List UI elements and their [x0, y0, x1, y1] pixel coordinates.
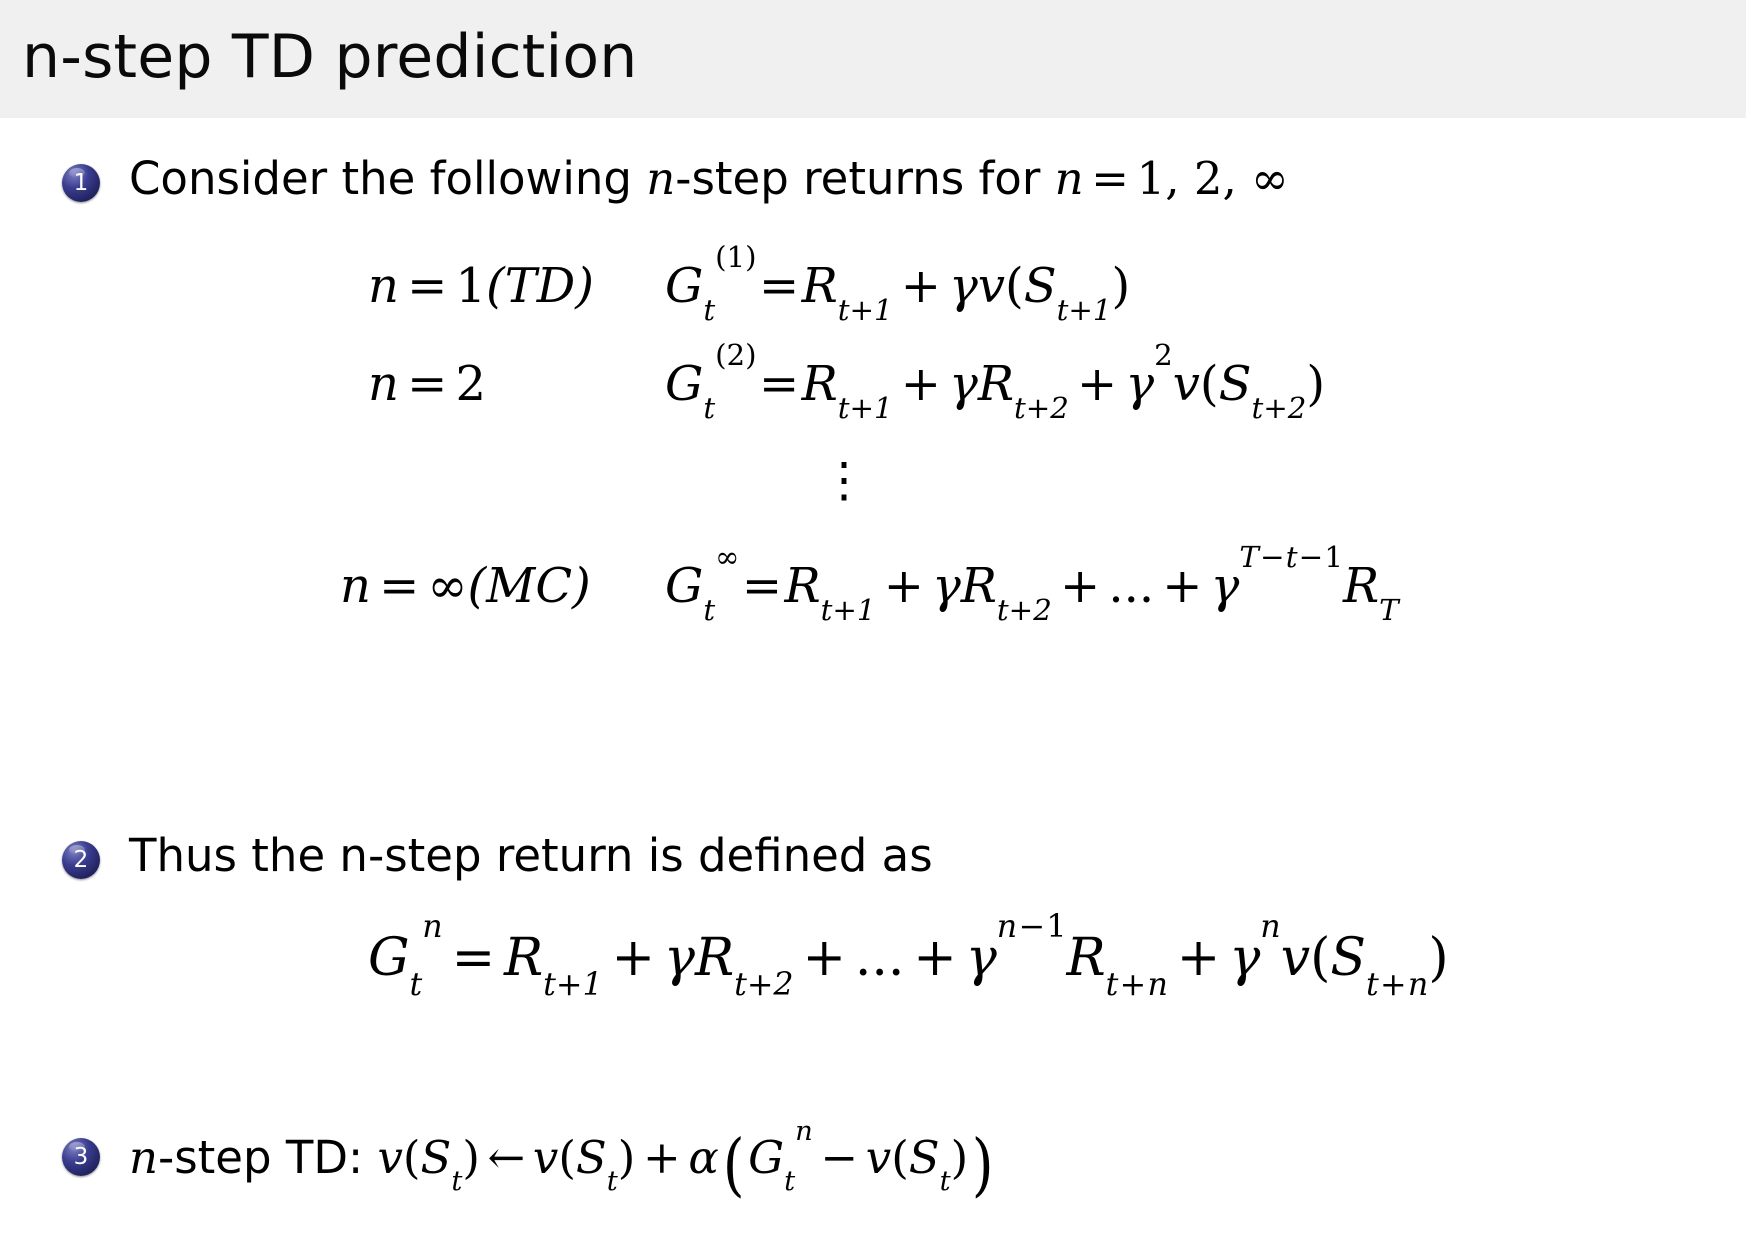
subscript-t-plus-1: t+1	[1057, 293, 1112, 327]
symbol-gamma: γ	[949, 258, 978, 314]
symbol-G: G	[665, 258, 703, 314]
equation-line-3-body: Gt∞=Rt+1+γRt+2+...+γT−t−1RT	[665, 558, 1399, 614]
subscript-t: t	[940, 1166, 951, 1197]
left-paren: (	[558, 1131, 576, 1184]
symbol-v: v	[866, 1131, 891, 1184]
symbol-G: G	[368, 928, 410, 988]
symbol-S: S	[1024, 258, 1057, 314]
equation-line-2-body: Gt(2)=Rt+1+γRt+2+γ2v(St+2)	[665, 356, 1325, 412]
plus-sign: +	[893, 356, 950, 412]
equals-sign: =	[1084, 152, 1137, 205]
equals-sign: =	[399, 356, 456, 412]
value-2: 2	[455, 356, 486, 412]
italic-n: n	[129, 1131, 158, 1184]
equals-sign: =	[757, 258, 802, 314]
equation-line-2-condition: n=2	[368, 356, 486, 412]
superscript-n-minus-1: n−1	[997, 909, 1067, 945]
symbol-alpha: α	[688, 1131, 718, 1184]
equals-sign: =	[740, 558, 785, 614]
symbol-R: R	[785, 558, 821, 614]
right-paren: )	[1428, 928, 1448, 988]
value-1: 1	[455, 258, 486, 314]
enum-marker-1: 1	[62, 164, 100, 202]
n-values: 1, 2, ∞	[1137, 152, 1289, 205]
symbol-n: n	[368, 258, 399, 314]
subscript-t-plus-1: t+1	[543, 967, 603, 1003]
right-paren: )	[618, 1131, 636, 1184]
subscript-t: t	[410, 967, 423, 1003]
symbol-S: S	[1330, 928, 1366, 988]
subscript-t: t	[703, 391, 715, 425]
equation-line-1-body: Gt(1)=Rt+1+γv(St+1)	[665, 258, 1130, 314]
symbol-R: R	[961, 558, 997, 614]
equation-nstep-return-definition: Gtn=Rt+1+γRt+2+...+γn−1Rt+n+γnv(St+n)	[368, 928, 1449, 988]
left-paren: (	[891, 1131, 909, 1184]
superscript-n: n	[795, 1116, 813, 1147]
symbol-v: v	[978, 258, 1005, 314]
list-item-text: Thus the n-step return is defined as	[129, 831, 933, 881]
subscript-t-plus-1: t+1	[838, 293, 893, 327]
plus-sign: +	[1168, 928, 1229, 988]
plus-sign: +	[893, 258, 950, 314]
subscript-t-plus-2: t+2	[734, 967, 794, 1003]
symbol-R: R	[978, 356, 1014, 412]
plus-sign: +	[1052, 558, 1109, 614]
plus-sign: +	[904, 928, 965, 988]
right-paren: )	[1306, 356, 1325, 412]
symbol-gamma: γ	[1229, 928, 1260, 988]
minus-sign: −	[1297, 540, 1324, 574]
subscript-t: t	[784, 1166, 795, 1197]
nstep-td-label: -step TD:	[158, 1131, 378, 1184]
superscript-n: n	[1260, 909, 1280, 945]
symbol-n: n	[1148, 967, 1168, 1003]
symbol-infinity: ∞	[427, 558, 467, 614]
equation-line-1-condition: n=1(TD)	[368, 258, 594, 314]
symbol-gamma: γ	[966, 928, 997, 988]
superscript-n: n	[422, 909, 442, 945]
symbol-S: S	[909, 1131, 940, 1184]
symbol-S: S	[1219, 356, 1252, 412]
superscript-2: 2	[1154, 338, 1173, 372]
equals-sign: =	[399, 258, 456, 314]
subscript-t-plus-1: t+1	[838, 391, 893, 425]
symbol-gamma: γ	[1211, 558, 1240, 614]
equals-sign: =	[757, 356, 802, 412]
left-paren: (	[1005, 258, 1024, 314]
minus-sign: −	[813, 1131, 866, 1184]
right-paren: )	[1112, 258, 1131, 314]
symbol-t: t	[1366, 967, 1379, 1003]
symbol-R: R	[1067, 928, 1106, 988]
plus-sign: +	[1379, 967, 1408, 1003]
item1-mid-text: -step returns for	[675, 152, 1054, 205]
subscript-t: t	[451, 1166, 462, 1197]
page-title: n-step TD prediction	[0, 27, 637, 87]
plus-sign: +	[1154, 558, 1211, 614]
left-paren: (	[403, 1131, 421, 1184]
superscript-T-minus-t-minus-1: T−t−1	[1239, 540, 1343, 574]
symbol-R: R	[802, 258, 838, 314]
subscript-t-plus-n: t+n	[1366, 967, 1428, 1003]
plus-sign: +	[635, 1131, 688, 1184]
item1-lead-text: Consider the following	[129, 152, 646, 205]
value-1: 1	[1324, 540, 1343, 574]
big-right-paren: )	[971, 1128, 995, 1205]
symbol-v: v	[1281, 928, 1310, 988]
symbol-t: t	[1286, 540, 1298, 574]
plus-sign: +	[1118, 967, 1147, 1003]
symbol-T: T	[1239, 540, 1259, 574]
subscript-T: T	[1379, 593, 1399, 627]
subscript-t: t	[607, 1166, 618, 1197]
value-1: 1	[1046, 909, 1066, 945]
subscript-t-plus-n: t+n	[1106, 967, 1168, 1003]
subscript-t: t	[703, 293, 715, 327]
list-item: 1 Consider the following n-step returns …	[62, 154, 1289, 204]
equals-sign: =	[371, 558, 428, 614]
symbol-S: S	[420, 1131, 451, 1184]
minus-sign: −	[1259, 540, 1286, 574]
superscript-infinity: ∞	[715, 540, 739, 574]
superscript-1: (1)	[715, 240, 756, 274]
italic-n: n	[646, 152, 675, 205]
left-paren: (	[1200, 356, 1219, 412]
minus-sign: −	[1017, 909, 1046, 945]
vertical-ellipsis: ⋮	[820, 456, 868, 504]
symbol-n: n	[997, 909, 1017, 945]
subscript-t-plus-2: t+2	[1251, 391, 1306, 425]
symbol-R: R	[1343, 558, 1379, 614]
list-item-text: n-step TD: v(St)←v(St)+α(Gtn−v(St))	[129, 1128, 998, 1205]
subscript-t: t	[703, 593, 715, 627]
equation-line-3-condition: n=∞(MC)	[340, 558, 591, 614]
list-item: 3 n-step TD: v(St)←v(St)+α(Gtn−v(St))	[62, 1128, 998, 1205]
left-arrow: ←	[480, 1131, 533, 1184]
list-item-text: Consider the following n-step returns fo…	[129, 154, 1289, 204]
symbol-R: R	[695, 928, 734, 988]
subscript-t-plus-2: t+2	[997, 593, 1052, 627]
italic-n-var: n	[1055, 152, 1084, 205]
symbol-R: R	[802, 356, 838, 412]
symbol-G: G	[748, 1131, 784, 1184]
symbol-t: t	[1106, 967, 1119, 1003]
mc-label: (MC)	[467, 558, 590, 614]
ellipsis: ...	[855, 928, 905, 988]
right-paren: )	[462, 1131, 480, 1184]
symbol-gamma: γ	[1125, 356, 1154, 412]
symbol-G: G	[665, 356, 703, 412]
symbol-G: G	[665, 558, 703, 614]
symbol-v: v	[533, 1131, 558, 1184]
plus-sign: +	[1069, 356, 1126, 412]
symbol-v: v	[1173, 356, 1200, 412]
symbol-S: S	[576, 1131, 607, 1184]
enum-marker-3: 3	[62, 1138, 100, 1176]
right-paren: )	[951, 1131, 969, 1184]
plus-sign: +	[876, 558, 933, 614]
list-item: 2 Thus the n-step return is defined as	[62, 831, 933, 881]
td-label: (TD)	[486, 258, 594, 314]
superscript-2: (2)	[715, 338, 756, 372]
symbol-v: v	[377, 1131, 402, 1184]
subscript-t-plus-2: t+2	[1014, 391, 1069, 425]
big-left-paren: (	[721, 1128, 745, 1205]
symbol-gamma: γ	[949, 356, 978, 412]
symbol-gamma: γ	[664, 928, 695, 988]
ellipsis: ...	[1108, 558, 1154, 614]
slide-body: 1 Consider the following n-step returns …	[0, 118, 1746, 1256]
symbol-gamma: γ	[932, 558, 961, 614]
symbol-n: n	[340, 558, 371, 614]
plus-sign: +	[603, 928, 664, 988]
left-paren: (	[1310, 928, 1330, 988]
equals-sign: =	[443, 928, 504, 988]
enum-marker-2: 2	[62, 841, 100, 879]
symbol-R: R	[504, 928, 543, 988]
subscript-t-plus-1: t+1	[821, 593, 876, 627]
symbol-n: n	[1408, 967, 1428, 1003]
slide-header: n-step TD prediction	[0, 0, 1746, 118]
plus-sign: +	[794, 928, 855, 988]
symbol-n: n	[368, 356, 399, 412]
